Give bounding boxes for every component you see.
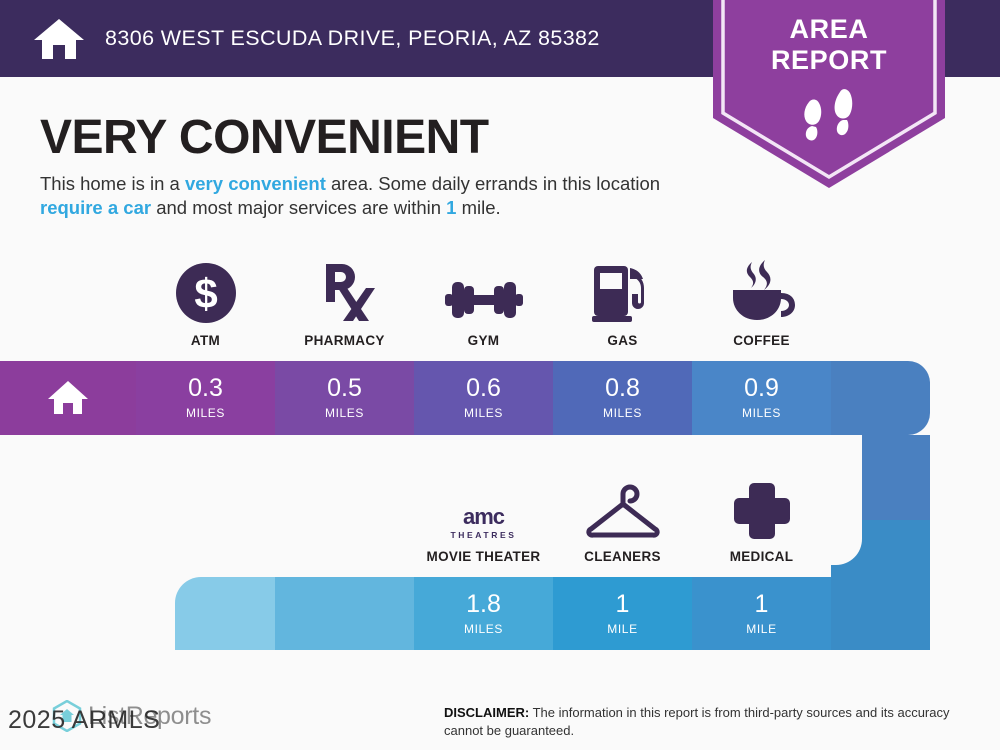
distance-value: 1.8 (466, 592, 501, 617)
gas-pump-icon (592, 262, 654, 324)
para-part-3: and most major services are within (151, 197, 446, 218)
para-highlight-3: 1 (446, 197, 456, 218)
distance-cell-atm: 0.3 MILES (136, 361, 275, 435)
distance-cell-coffee: 0.9 MILES (692, 361, 831, 435)
badge-title: AREA REPORT (713, 14, 945, 75)
para-part-1: This home is in a (40, 173, 185, 194)
distance-cell-medical: 1 MILE (692, 577, 831, 650)
distance-unit: MILE (746, 622, 776, 636)
rx-icon (314, 260, 376, 324)
distance-value: 0.5 (327, 376, 362, 401)
amc-subtext: THEATRES (451, 530, 517, 540)
area-report-badge: AREA REPORT (713, 0, 945, 190)
distance-value: 0.3 (188, 376, 223, 401)
distance-unit: MILES (603, 406, 642, 420)
para-part-4: mile. (456, 197, 500, 218)
area-report-page: 8306 WEST ESCUDA DRIVE, PEORIA, AZ 85382… (0, 0, 1000, 750)
svg-text:$: $ (194, 270, 217, 317)
amenity-gas: GAS (553, 262, 692, 348)
home-icon (47, 380, 89, 416)
distance-cell-gym: 0.6 MILES (414, 361, 553, 435)
amenity-gym: GYM (414, 262, 553, 348)
amenity-label: GAS (553, 333, 692, 348)
page-title: VERY CONVENIENT (40, 110, 489, 165)
distance-value: 1 (755, 592, 769, 617)
distance-value: 1 (616, 592, 630, 617)
amenity-label: COFFEE (692, 333, 831, 348)
amenity-cleaners: CLEANERS (553, 478, 692, 564)
distance-cell-movie-theater: 1.8 MILES (414, 577, 553, 650)
bar-lead-2 (275, 577, 414, 650)
para-highlight-2: require a car (40, 197, 151, 218)
distance-cell-gas: 0.8 MILES (553, 361, 692, 435)
home-segment (0, 361, 136, 435)
amenity-coffee: COFFEE (692, 262, 831, 348)
distance-unit: MILES (464, 622, 503, 636)
distance-value: 0.6 (466, 376, 501, 401)
amenity-label: GYM (414, 333, 553, 348)
distance-unit: MILES (325, 406, 364, 420)
disclaimer-text: DISCLAIMER: The information in this repo… (444, 704, 964, 739)
dumbbell-icon (445, 276, 523, 324)
amenity-label: MEDICAL (692, 549, 831, 564)
amenity-atm: $ ATM (136, 262, 275, 348)
coffee-cup-icon (727, 260, 797, 324)
distance-value: 0.9 (744, 376, 779, 401)
summary-paragraph: This home is in a very convenient area. … (40, 172, 720, 220)
badge-line-1: AREA (713, 14, 945, 45)
distance-bar-row-1: 0.3 MILES 0.5 MILES 0.6 MILES 0.8 MILES … (0, 361, 930, 435)
distance-value: 0.8 (605, 376, 640, 401)
disclaimer-label: DISCLAIMER: (444, 705, 529, 720)
para-highlight-1: very convenient (185, 173, 326, 194)
distance-unit: MILES (464, 406, 503, 420)
amenity-medical: MEDICAL (692, 478, 831, 564)
distance-cell-cleaners: 1 MILE (553, 577, 692, 650)
armls-watermark: 2025 ARMLS (8, 706, 160, 735)
amc-theatres-logo: amc THEATRES (451, 506, 517, 540)
distance-cell-pharmacy: 0.5 MILES (275, 361, 414, 435)
distance-unit: MILES (186, 406, 225, 420)
hanger-icon (585, 482, 661, 540)
amenity-label: ATM (136, 333, 275, 348)
badge-line-2: REPORT (713, 45, 945, 76)
amenity-label: PHARMACY (275, 333, 414, 348)
home-icon (33, 17, 85, 61)
bar-tail-1 (831, 361, 930, 435)
amenity-label: CLEANERS (553, 549, 692, 564)
bar-lead-1 (175, 577, 275, 650)
dollar-circle-icon: $ (175, 262, 237, 324)
distance-bar-row-2: 1.8 MILES 1 MILE 1 MILE (175, 577, 930, 650)
distance-unit: MILE (607, 622, 637, 636)
property-address: 8306 WEST ESCUDA DRIVE, PEORIA, AZ 85382 (105, 26, 600, 51)
amenity-pharmacy: PHARMACY (275, 262, 414, 348)
amenity-movie-theater: amc THEATRES MOVIE THEATER (414, 478, 553, 564)
medical-cross-icon (733, 482, 791, 540)
distance-unit: MILES (742, 406, 781, 420)
amenity-label: MOVIE THEATER (414, 549, 553, 564)
amc-wordmark: amc (451, 506, 517, 528)
para-part-2: area. Some daily errands in this locatio… (326, 173, 660, 194)
bar-tail-2 (831, 577, 930, 650)
